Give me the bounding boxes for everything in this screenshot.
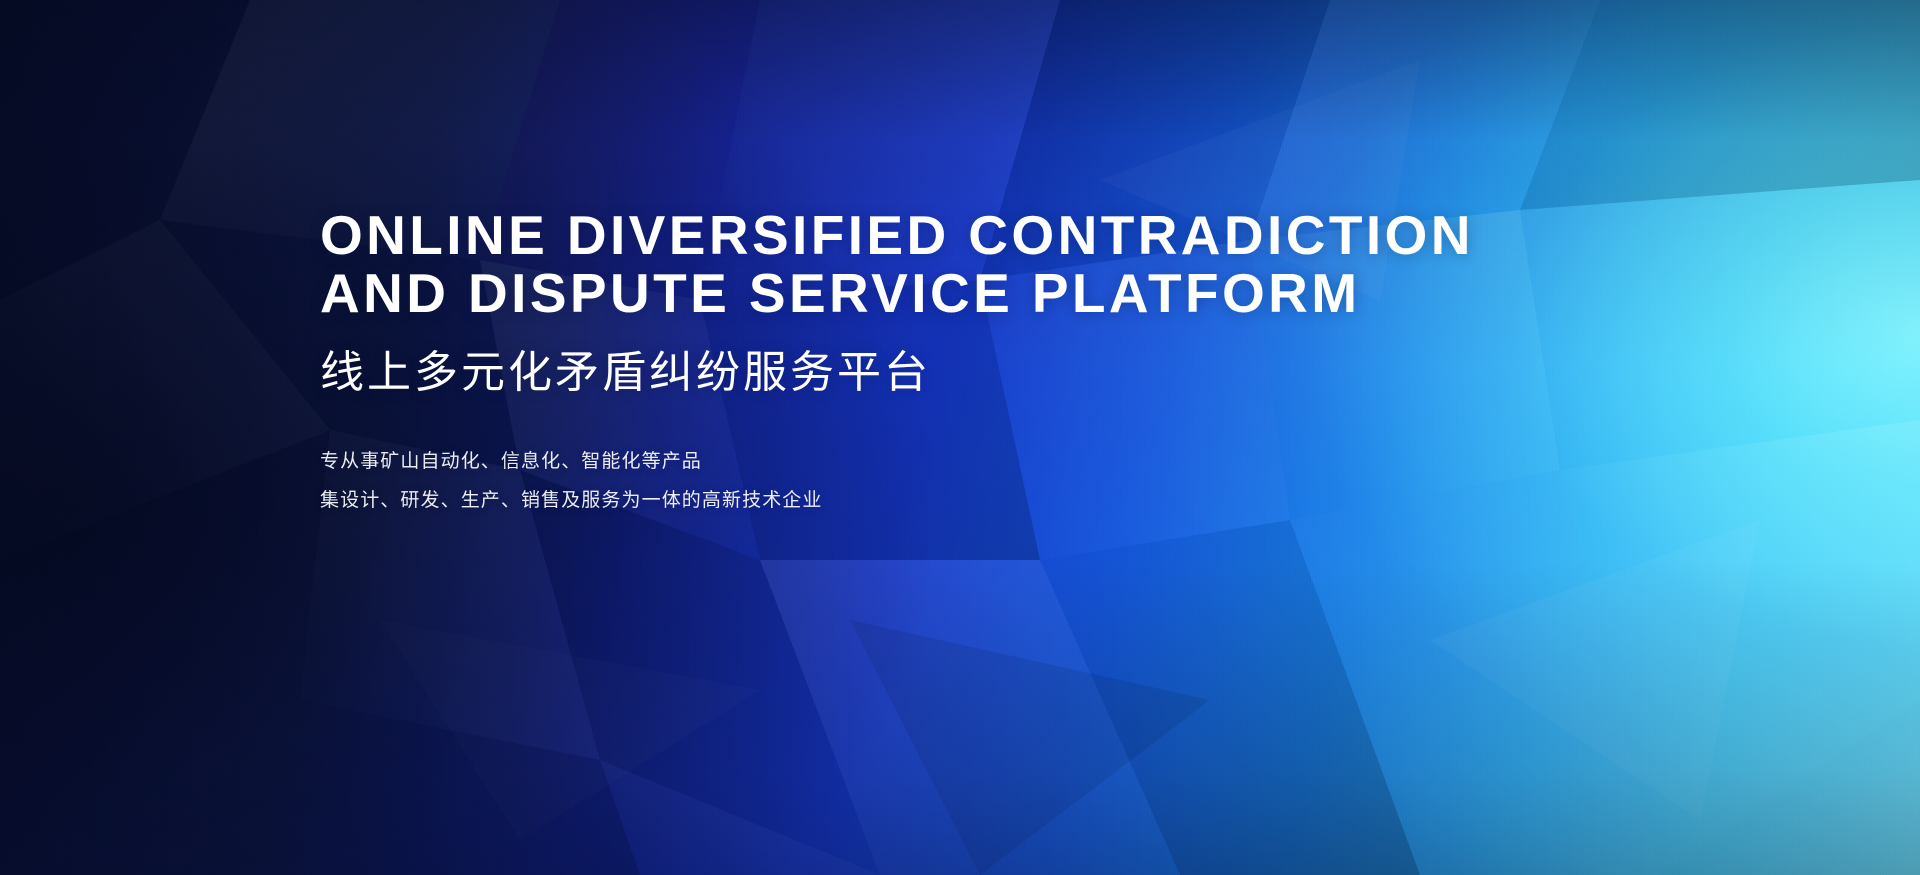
headline-english: ONLINE DIVERSIFIED CONTRADICTION AND DIS… bbox=[320, 206, 1660, 322]
hero-copy-block: ONLINE DIVERSIFIED CONTRADICTION AND DIS… bbox=[320, 206, 1660, 520]
subtitle-block: 专从事矿山自动化、信息化、智能化等产品 集设计、研发、生产、销售及服务为一体的高… bbox=[320, 442, 1660, 520]
subtitle-line-2: 集设计、研发、生产、销售及服务为一体的高新技术企业 bbox=[320, 481, 1660, 520]
headline-english-line-2: AND DISPUTE SERVICE PLATFORM bbox=[320, 264, 1660, 322]
headline-english-line-1: ONLINE DIVERSIFIED CONTRADICTION bbox=[320, 206, 1660, 264]
hero-banner: ONLINE DIVERSIFIED CONTRADICTION AND DIS… bbox=[0, 0, 1920, 875]
headline-chinese: 线上多元化矛盾纠纷服务平台 bbox=[320, 348, 1660, 398]
subtitle-line-1: 专从事矿山自动化、信息化、智能化等产品 bbox=[320, 442, 1660, 481]
